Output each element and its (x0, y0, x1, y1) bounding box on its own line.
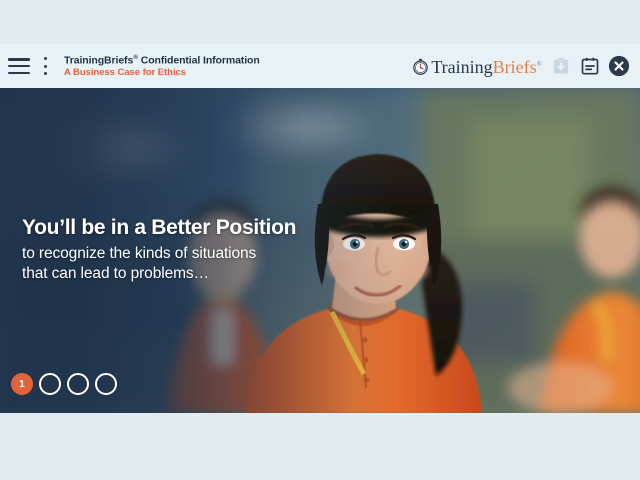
hamburger-line (8, 65, 30, 68)
download-icon[interactable] (550, 55, 572, 77)
pagination-dot-1[interactable]: 1 (11, 373, 33, 395)
slide-caption: You’ll be in a Better Position to recogn… (22, 216, 352, 284)
close-icon[interactable] (608, 55, 630, 77)
logo-word-briefs: Briefs (493, 57, 537, 77)
kebab-dot (44, 72, 47, 75)
logo-registered-mark: ® (537, 60, 542, 68)
page-subtitle: A Business Case for Ethics (64, 68, 260, 79)
slide-headline: You’ll be in a Better Position (22, 216, 352, 239)
logo-wordmark: TrainingBriefs® (431, 55, 542, 77)
notes-icon[interactable] (579, 55, 601, 77)
slide-stage: You’ll be in a Better Position to recogn… (0, 88, 640, 413)
course-player: TrainingBriefs® Confidential Information… (0, 0, 640, 480)
pagination-dot-4[interactable] (95, 373, 117, 395)
pagination-dot-3[interactable] (67, 373, 89, 395)
page-title-rest: Confidential Information (138, 54, 260, 66)
logo-word-training: Training (431, 57, 492, 77)
more-options-icon[interactable] (38, 57, 52, 75)
page-title-brand: TrainingBriefs (64, 54, 133, 66)
hamburger-menu-icon[interactable] (8, 58, 30, 74)
page-title: TrainingBriefs® Confidential Information (64, 54, 260, 67)
stopwatch-icon (411, 57, 430, 76)
trainingbriefs-logo: TrainingBriefs® (411, 55, 542, 77)
header-title-block: TrainingBriefs® Confidential Information… (64, 54, 260, 79)
header-actions (550, 55, 630, 77)
slide-subline-2: that can lead to problems… (22, 264, 352, 284)
kebab-dot (44, 57, 47, 60)
hamburger-line (8, 72, 30, 75)
pagination-dot-2[interactable] (39, 373, 61, 395)
player-header: TrainingBriefs® Confidential Information… (0, 44, 640, 88)
slide-pagination: 1 (11, 373, 117, 395)
hamburger-line (8, 58, 30, 61)
slide-subline-1: to recognize the kinds of situations (22, 244, 352, 264)
kebab-dot (44, 65, 47, 68)
